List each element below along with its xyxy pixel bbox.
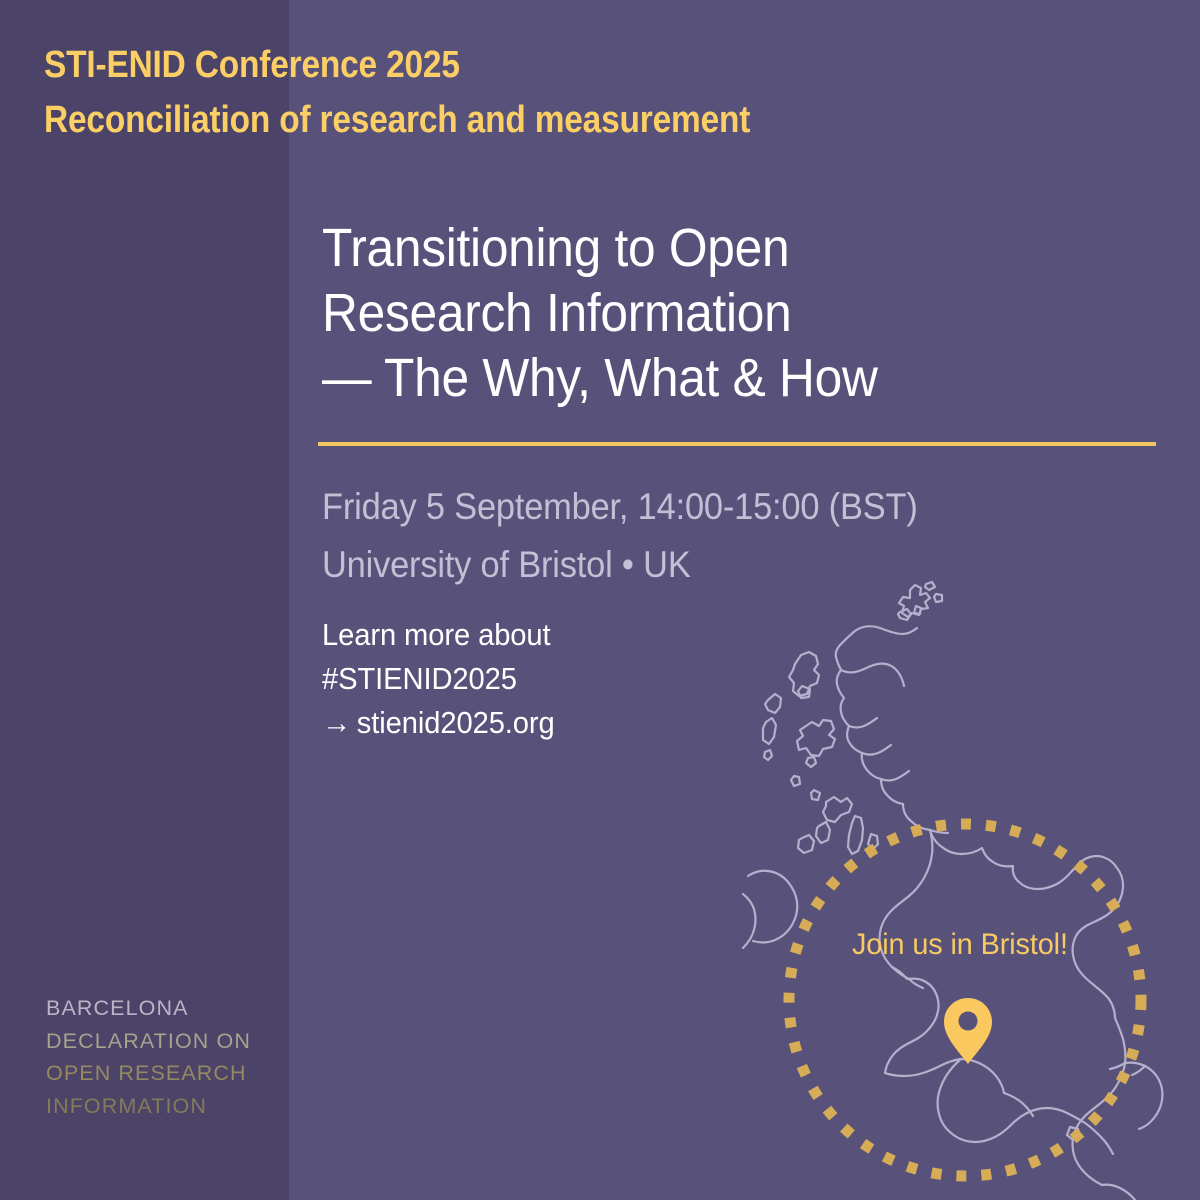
barcelona-declaration-logo: BARCELONA DECLARATION ON OPEN RESEARCH I… (46, 992, 251, 1123)
uk-map-illustration (740, 576, 1200, 1200)
join-us-caption: Join us in Bristol! (852, 928, 1068, 962)
website-url[interactable]: stienid2025.org (357, 705, 555, 740)
bristol-map-pin[interactable] (944, 998, 992, 1064)
wash-estuary (1132, 1066, 1145, 1075)
title-line-1: Transitioning to Open (322, 216, 1095, 281)
humber-estuary (1110, 1063, 1125, 1069)
logo-line-2: DECLARATION ON (46, 1025, 251, 1058)
event-venue: University of Bristol • UK (322, 536, 918, 594)
isle-of-islay (798, 835, 814, 853)
england-east-anglia (1125, 1063, 1162, 1129)
firth-indent-2 (862, 745, 891, 755)
northern-ireland-fragment (748, 871, 797, 943)
england-thames-kent (1102, 1185, 1135, 1200)
yellow-divider-rule (318, 442, 1156, 446)
bristol-channel (961, 1059, 1004, 1093)
event-meta: Friday 5 September, 14:00-15:00 (BST) Un… (322, 478, 962, 593)
header-line-2: Reconciliation of research and measureme… (44, 93, 1030, 148)
learn-more-block: Learn more about #STIENID2025 →stienid20… (322, 613, 570, 745)
logo-line-4: INFORMATION (46, 1090, 251, 1123)
north-uist (765, 694, 781, 713)
isle-of-skye (797, 720, 835, 756)
wales-outline (885, 979, 939, 1073)
wales-south-coast (885, 1059, 961, 1076)
orkney-islet-b (934, 594, 942, 602)
conference-header: STI-ENID Conference 2025 Reconciliation … (44, 38, 1164, 147)
cornwall-devon (938, 1059, 1067, 1142)
south-uist (763, 718, 776, 744)
ireland-east-edge (743, 894, 756, 948)
clyde-indent (881, 771, 909, 781)
poster-canvas: STI-ENID Conference 2025 Reconciliation … (0, 0, 1200, 1200)
learn-more-line-1: Learn more about (322, 613, 555, 657)
title-line-2: Research Information (322, 281, 1095, 346)
event-datetime: Friday 5 September, 14:00-15:00 (BST) (322, 478, 918, 536)
isle-of-lewis (789, 652, 819, 696)
logo-line-1: BARCELONA (46, 992, 251, 1025)
title-line-3: — The Why, What & How (322, 346, 1095, 411)
scotland-west-coast (841, 664, 904, 686)
arrow-right-icon: → (322, 705, 357, 740)
small-isle-a (806, 757, 816, 767)
learn-more-hashtag: #STIENID2025 (322, 657, 555, 701)
kintyre-peninsula (848, 816, 863, 854)
small-isle-b (791, 776, 800, 786)
logo-line-3: OPEN RESEARCH (46, 1057, 251, 1090)
learn-more-url-row[interactable]: →stienid2025.org (322, 701, 555, 745)
barra (764, 750, 772, 760)
small-isle-c (811, 790, 820, 800)
england-northeast-coast (1073, 1018, 1126, 1185)
north-isle-small (914, 606, 921, 614)
cardigan-bay (892, 967, 907, 979)
session-title: Transitioning to Open Research Informati… (322, 216, 1162, 410)
header-line-1: STI-ENID Conference 2025 (44, 38, 1030, 93)
uk-map-paths (743, 582, 1162, 1200)
